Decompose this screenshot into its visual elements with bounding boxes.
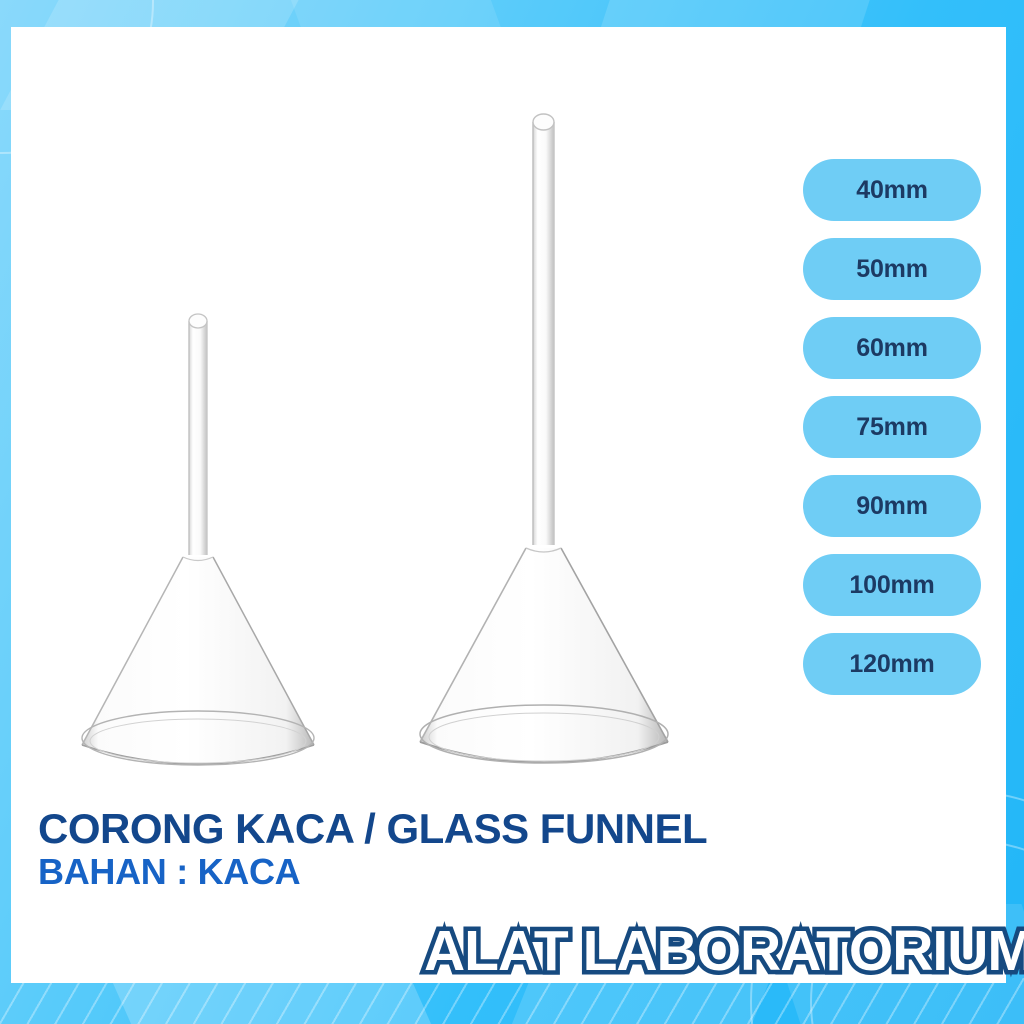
- product-title-primary: CORONG KACA / GLASS FUNNEL: [38, 808, 707, 851]
- size-option-label: 120mm: [849, 650, 934, 679]
- size-option-label: 100mm: [849, 571, 934, 600]
- size-option-label: 60mm: [856, 334, 927, 363]
- size-option-label: 40mm: [856, 176, 927, 205]
- size-option-label: 75mm: [856, 413, 927, 442]
- small-glass-funnel: [70, 305, 350, 790]
- size-option-75mm[interactable]: 75mm: [803, 396, 981, 458]
- size-options-list: 40mm 50mm 60mm 75mm 90mm 100mm 120mm: [803, 159, 981, 712]
- size-option-50mm[interactable]: 50mm: [803, 238, 981, 300]
- product-title-secondary: BAHAN : KACA: [38, 853, 707, 892]
- size-option-60mm[interactable]: 60mm: [803, 317, 981, 379]
- product-image-canvas: 40mm 50mm 60mm 75mm 90mm 100mm 120mm COR…: [0, 0, 1024, 1024]
- size-option-90mm[interactable]: 90mm: [803, 475, 981, 537]
- brand-wordmark: ALAT LABORATORIUM: [424, 918, 1024, 984]
- size-option-40mm[interactable]: 40mm: [803, 159, 981, 221]
- size-option-100mm[interactable]: 100mm: [803, 554, 981, 616]
- product-title-block: CORONG KACA / GLASS FUNNEL BAHAN : KACA: [38, 808, 707, 892]
- large-glass-funnel: [408, 105, 698, 790]
- frame-diagonal-lines: [0, 978, 1024, 1024]
- size-option-label: 50mm: [856, 255, 927, 284]
- size-option-120mm[interactable]: 120mm: [803, 633, 981, 695]
- size-option-label: 90mm: [856, 492, 927, 521]
